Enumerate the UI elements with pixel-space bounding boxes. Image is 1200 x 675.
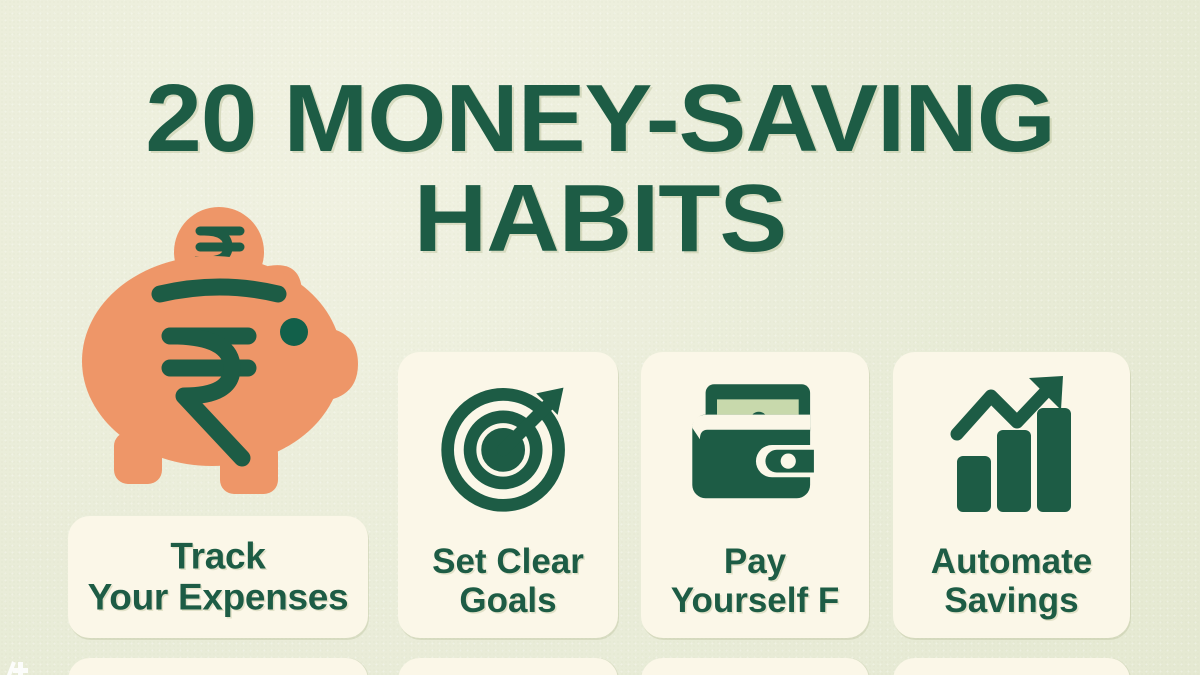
habit-card-next-4[interactable] [893, 658, 1130, 675]
habit-card-track-expenses[interactable]: Track Your Expenses [68, 516, 368, 638]
habit-card-next-3[interactable] [641, 658, 869, 675]
habit-card-label: Track Your Expenses [76, 536, 360, 619]
habit-card-label: Pay Yourself F [649, 542, 861, 620]
target-goal-icon [398, 370, 618, 520]
page-title-line-1: 20 MONEY-SAVING [0, 72, 1200, 166]
habit-card-automate-savings[interactable]: Automate Savings [893, 352, 1130, 638]
habit-card-row-next [68, 658, 1130, 675]
habit-card-label-line-1: Track [170, 536, 265, 577]
habit-card-label-line-2: Your Expenses [88, 577, 349, 618]
piggy-bank-icon [72, 196, 372, 516]
corner-watermark-icon [6, 660, 32, 675]
habit-card-set-clear-goals[interactable]: Set Clear Goals [398, 352, 618, 638]
habit-card-label-line-2: Goals [459, 581, 556, 620]
habit-card-next-2[interactable] [398, 658, 618, 675]
habit-card-label-line-2: Savings [944, 581, 1078, 620]
habit-card-label: Set Clear Goals [406, 542, 610, 620]
habit-card-label: Automate Savings [901, 542, 1122, 620]
habit-card-label-line-1: Pay [724, 542, 786, 581]
habit-card-label-line-1: Automate [931, 542, 1092, 581]
habit-card-next-1[interactable] [68, 658, 368, 675]
bar-chart-growth-icon [893, 370, 1130, 520]
habit-card-label-line-2: Yourself F [671, 581, 840, 620]
infographic-canvas: 20 MONEY-SAVING HABITS [0, 0, 1200, 675]
habit-card-pay-yourself-first[interactable]: Pay Yourself F [641, 352, 869, 638]
wallet-cash-icon [641, 370, 869, 520]
habit-card-label-line-1: Set Clear [432, 542, 584, 581]
